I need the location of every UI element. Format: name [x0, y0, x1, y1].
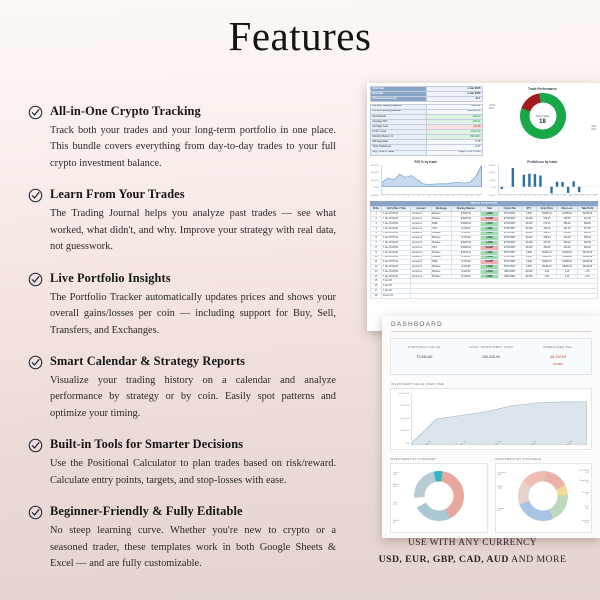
axis-tick: 18 — [477, 195, 479, 197]
axis-tick: 6 — [524, 195, 525, 197]
axis-tick: 200.00 — [487, 180, 496, 182]
check-circle-icon — [28, 505, 43, 520]
pl-plot — [498, 165, 599, 195]
open-position-table: Sl No.Entry Date / TimeAccountExchangeSt… — [370, 206, 598, 298]
feature-item: Built-in Tools for Smarter DecisionsUse … — [28, 437, 338, 489]
by-category-label-0: Layer 1 38% — [393, 472, 400, 477]
total-trade-value: 18 — [487, 118, 598, 124]
kpi-label: PORTFOLIO VALUE — [391, 345, 458, 349]
by-category-label-1: Meme 25% — [393, 484, 399, 489]
axis-tick: 3 — [509, 195, 510, 197]
axis-tick: 100000.00 — [395, 393, 410, 395]
axis-tick: 0.00 — [395, 443, 410, 445]
value-over-time-y-axis: 100000.0080000.0060000.0040000.000.00 — [395, 393, 411, 445]
kpi-tile: TOTAL INVESTMENT COST100,215.00 — [458, 345, 525, 366]
by-exchange-title: INVESTMENT BY EXCHANGE — [495, 450, 593, 463]
roi-chart: ROI % by trade 300.00%200.00%100.00%0.00… — [370, 159, 482, 198]
axis-tick: 400.00 — [487, 172, 496, 174]
axis-tick: 100.00% — [370, 180, 379, 182]
table-cell — [411, 293, 598, 298]
axis-tick: 6 — [408, 195, 409, 197]
by-exchange-label-3: Trust Wallet 10% — [578, 470, 589, 475]
by-exchange-label-0: Coinbase 14% — [498, 472, 507, 477]
by-category-label-2: DeFi 21% — [393, 502, 397, 507]
axis-tick: 600.00 — [487, 165, 496, 167]
axis-tick: 0.00% — [370, 187, 379, 189]
value-over-time-plot — [411, 393, 587, 445]
feature-title: Learn From Your Trades — [50, 187, 185, 201]
table-row[interactable]: 1816 Jun 25 — [371, 293, 598, 298]
by-category-title: INVESTMENT BY CATEGORY — [390, 450, 488, 463]
axis-tick: 8 — [418, 195, 419, 197]
axis-tick: 11 — [551, 195, 553, 197]
journal-metric-row: Avg. Time in Trade0 days 3 hrs 5 mins — [371, 150, 483, 155]
axis-tick: 80000.00 — [395, 405, 410, 407]
axis-tick: 1 — [383, 195, 384, 197]
axis-tick: 2 — [388, 195, 389, 197]
axis-tick: 10 — [428, 195, 430, 197]
feature-description: Visualize your trading history on a cale… — [28, 373, 338, 422]
axis-tick: 4 — [514, 195, 515, 197]
kpi-value: 73,540.80 — [391, 355, 458, 359]
check-circle-icon — [28, 438, 43, 453]
by-exchange-label-4: MetaMask 9% — [579, 480, 589, 485]
axis-tick: 16 — [581, 195, 583, 197]
check-circle-icon — [28, 272, 43, 287]
axis-tick: 4 — [398, 195, 399, 197]
axis-tick: 11 — [434, 195, 436, 197]
check-circle-icon — [28, 105, 43, 120]
axis-tick: -200.00 — [487, 195, 496, 197]
roi-plot — [381, 165, 482, 195]
by-exchange-label-1: ByBit 12% — [498, 486, 503, 491]
kpi-tile: PORTFOLIO VALUE73,540.80 — [391, 345, 458, 366]
page-title: Features — [0, 0, 600, 57]
pl-x-axis: 123456789101112131415161718 — [498, 195, 599, 198]
feature-item: Beginner-Friendly & Fully EditableNo ste… — [28, 504, 338, 572]
axis-tick: 14 — [569, 195, 571, 197]
by-category-card: Layer 1 38% Meme 25% DeFi 21% Stable 8% — [390, 463, 488, 533]
by-exchange-label-7: Binance 10% — [581, 520, 589, 525]
product-screenshots: Start date1 Jun 2025End date1 Jun 2025Ch… — [345, 78, 600, 538]
axis-tick: 200.00% — [370, 172, 379, 174]
kpi-value: 100,215.00 — [458, 355, 525, 359]
feature-description: The Trading Journal helps you analyze pa… — [28, 206, 338, 255]
axis-tick: 5 — [519, 195, 520, 197]
axis-tick: 15 — [459, 195, 461, 197]
features-list: All-in-One Crypto TrackingTrack both you… — [28, 104, 338, 587]
axis-tick: 9 — [539, 195, 540, 197]
total-trade-label: Total Trade — [487, 114, 598, 118]
roi-x-axis: 123456789101112131415161718 — [381, 195, 482, 198]
value-over-time-x-axis: Jan 25Feb 25Mar 25Apr 25May 25 — [395, 445, 587, 447]
axis-tick: 13 — [563, 195, 565, 197]
kpi-value: -26,110.09 — [524, 355, 591, 359]
feature-description: Track both your trades and your long-ter… — [28, 123, 338, 172]
axis-tick: 0.00 — [487, 187, 496, 189]
axis-tick: 12 — [557, 195, 559, 197]
by-exchange-donut — [518, 471, 568, 521]
feature-item: All-in-One Crypto TrackingTrack both you… — [28, 104, 338, 172]
axis-tick: 3 — [393, 195, 394, 197]
footer-currency-list: USD, EUR, GBP, CAD, AUD AND MORE — [345, 554, 600, 565]
pl-chart: Profit/Loss by trade 600.00400.00200.000… — [487, 159, 599, 198]
axis-tick: 15 — [575, 195, 577, 197]
feature-title: Live Portfolio Insights — [50, 271, 171, 285]
axis-tick: 7 — [529, 195, 530, 197]
feature-title: Built-in Tools for Smarter Decisions — [50, 437, 243, 451]
feature-item: Smart Calendar & Strategy ReportsVisuali… — [28, 354, 338, 422]
axis-tick: 10 — [544, 195, 546, 197]
axis-tick: 7 — [413, 195, 414, 197]
feature-item: Live Portfolio InsightsThe Portfolio Tra… — [28, 271, 338, 339]
metric-value: 0 days 3 hrs 5 mins — [427, 150, 483, 155]
feature-description: Use the Positional Calculator to plan tr… — [28, 456, 338, 489]
by-exchange-label-6: OKX 11% — [585, 506, 589, 511]
axis-tick: 16 — [465, 195, 467, 197]
by-exchange-label-5: Gemini 8% — [582, 492, 589, 497]
value-over-time-title: INVESTMENT VALUE OVER TIME — [382, 375, 600, 388]
footer-suffix: AND MORE — [509, 554, 567, 565]
axis-tick: 13 — [446, 195, 448, 197]
feature-description: No steep learning curve. Whether you're … — [28, 523, 338, 572]
axis-tick: 8 — [534, 195, 535, 197]
roi-y-axis: 300.00%200.00%100.00%0.00%-100.00% — [370, 165, 380, 198]
dashboard-title: DASHBOARD — [382, 316, 600, 331]
feature-title: Beginner-Friendly & Fully Editable — [50, 504, 243, 518]
trade-performance-chart: Trade Performance Total Trade 18 LOSS 20… — [487, 86, 598, 156]
axis-tick: 2 — [504, 195, 505, 197]
axis-tick: 5 — [403, 195, 404, 197]
value-over-time-card: 100000.0080000.0060000.0040000.000.00 Ja… — [390, 388, 592, 450]
feature-description: The Portfolio Tracker automatically upda… — [28, 290, 338, 339]
win-callout: WIN 80% — [591, 126, 596, 132]
loss-callout: LOSS 20% — [489, 105, 495, 111]
check-circle-icon — [28, 355, 43, 370]
metric-label: Avg. Time in Trade — [371, 150, 427, 155]
portfolio-dashboard-screenshot: DASHBOARD PORTFOLIO VALUE73,540.80TOTAL … — [382, 316, 600, 538]
axis-tick: 1 — [499, 195, 500, 197]
table-cell: 16 Jun 25 — [382, 293, 411, 298]
kpi-label: TOTAL INVESTMENT COST — [458, 345, 525, 349]
dashboard-divider — [391, 331, 591, 332]
by-category-donut — [414, 471, 464, 521]
footer: USE WITH ANY CURRENCY USD, EUR, GBP, CAD… — [345, 538, 600, 565]
trade-performance-center: Total Trade 18 — [487, 114, 598, 125]
footer-currencies: USD, EUR, GBP, CAD, AUD — [379, 554, 509, 565]
pl-y-axis: 600.00400.00200.000.00-200.00 — [487, 165, 497, 198]
axis-tick: 18 — [594, 195, 596, 197]
axis-tick: 14 — [452, 195, 454, 197]
axis-tick: 17 — [471, 195, 473, 197]
kpi-label: UNREALIZED P&L — [524, 345, 591, 349]
trade-performance-title: Trade Performance — [487, 86, 598, 92]
footer-currency-heading: USE WITH ANY CURRENCY — [345, 538, 600, 548]
feature-title: All-in-One Crypto Tracking — [50, 104, 201, 118]
axis-tick: 12 — [440, 195, 442, 197]
axis-tick: 60000.00 — [395, 418, 410, 420]
kpi-subvalue: -26.08% — [524, 362, 591, 366]
feature-item: Learn From Your TradesThe Trading Journa… — [28, 187, 338, 255]
feature-title: Smart Calendar & Strategy Reports — [50, 354, 245, 368]
table-cell: 18 — [371, 293, 382, 298]
kpi-card-row: PORTFOLIO VALUE73,540.80TOTAL INVESTMENT… — [390, 338, 592, 375]
by-exchange-label-2: Kraken 26% — [498, 508, 505, 513]
journal-summary-table: Start date1 Jun 2025End date1 Jun 2025Ch… — [370, 86, 483, 156]
trading-journal-screenshot: Start date1 Jun 2025End date1 Jun 2025Ch… — [367, 83, 600, 331]
axis-tick: 17 — [587, 195, 589, 197]
check-circle-icon — [28, 188, 43, 203]
kpi-tile: UNREALIZED P&L-26,110.09-26.08% — [524, 345, 591, 366]
by-category-label-3: Stable 8% — [393, 520, 399, 525]
axis-tick: -100.00% — [370, 195, 379, 197]
axis-tick: 300.00% — [370, 165, 379, 167]
axis-tick: 40000.00 — [395, 430, 410, 432]
by-exchange-card: Coinbase 14% ByBit 12% Kraken 26% Trust … — [495, 463, 593, 533]
axis-tick: 9 — [423, 195, 424, 197]
